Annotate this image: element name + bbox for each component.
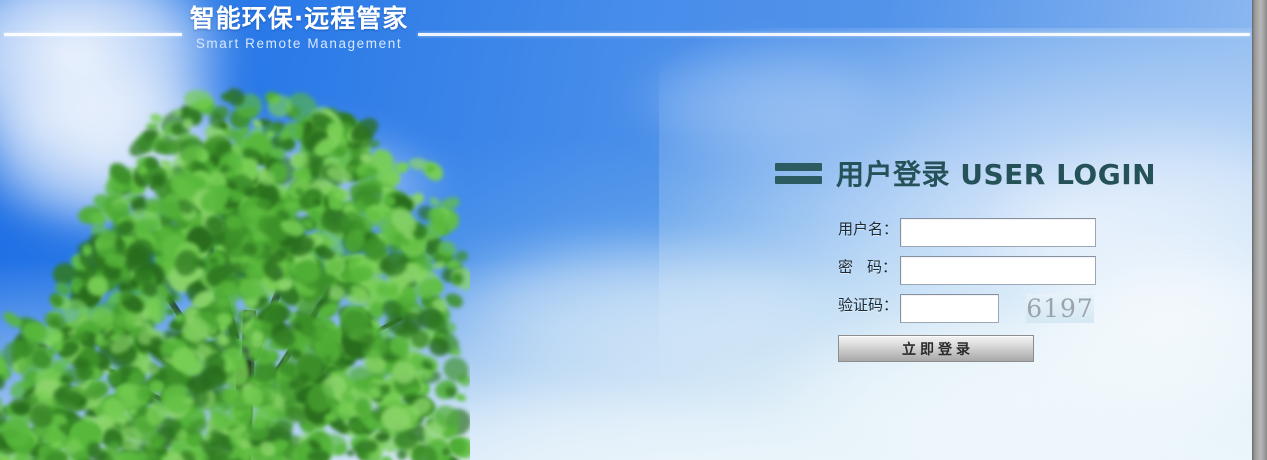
login-page: 智能环保·远程管家 Smart Remote Management 用户登录 U… [0,0,1267,460]
tree-leaf [140,362,160,375]
login-title: 用户登录 USER LOGIN [775,150,1175,196]
tree-leaf [341,309,369,338]
tree-leaf [105,253,128,268]
form-row-captcha: 验证码： 6197 [838,294,1175,323]
password-label-char2: 码 [867,258,882,276]
form-row-username: 用户名： [838,218,1175,247]
password-input[interactable] [900,256,1096,285]
header-rule-left [4,33,182,36]
captcha-image[interactable]: 6197 [1026,294,1094,323]
tree-leaf [29,404,53,428]
tree-leaf [165,308,176,315]
password-label: 密码： [838,256,900,277]
tree-leaf [0,327,1,349]
tree-leaf [429,337,449,357]
form-row-password: 密码： [838,256,1175,285]
tree-leaf [451,349,460,356]
tree-leaf [281,431,292,439]
brand-title-cn: 智能环保·远程管家 [186,6,412,31]
password-label-char1: 密 [838,258,853,276]
double-bar-icon [775,163,822,184]
tree-leaf [342,392,356,403]
username-label: 用户名： [838,218,900,239]
tree-leaf [22,322,47,343]
tree-leaf [454,393,467,403]
login-button[interactable]: 立即登录 [838,335,1034,362]
username-input[interactable] [900,218,1096,247]
tree-leaf [125,256,153,272]
form-row-submit: 立即登录 [838,335,1175,362]
brand-block: 智能环保·远程管家 Smart Remote Management [186,6,412,51]
tree-leaf [359,183,382,207]
captcha-input[interactable] [900,294,999,323]
captcha-label: 验证码： [838,294,900,315]
page-header: 智能环保·远程管家 Smart Remote Management [0,0,1252,70]
tree-leaf [51,440,62,447]
login-panel: 用户登录 USER LOGIN 用户名： 密码： 验证码： 6197 立即登录 [775,150,1175,362]
tree-leaf [82,366,95,378]
login-form: 用户名： 密码： 验证码： 6197 立即登录 [775,218,1175,362]
right-edge-scrollbar[interactable] [1252,0,1267,460]
header-rule-right [418,33,1250,36]
brand-subtitle-en: Smart Remote Management [186,37,412,51]
login-title-text: 用户登录 USER LOGIN [836,153,1156,193]
tree-leaf [221,92,233,100]
tree-leaf [46,348,56,356]
tree-illustration [0,60,470,460]
